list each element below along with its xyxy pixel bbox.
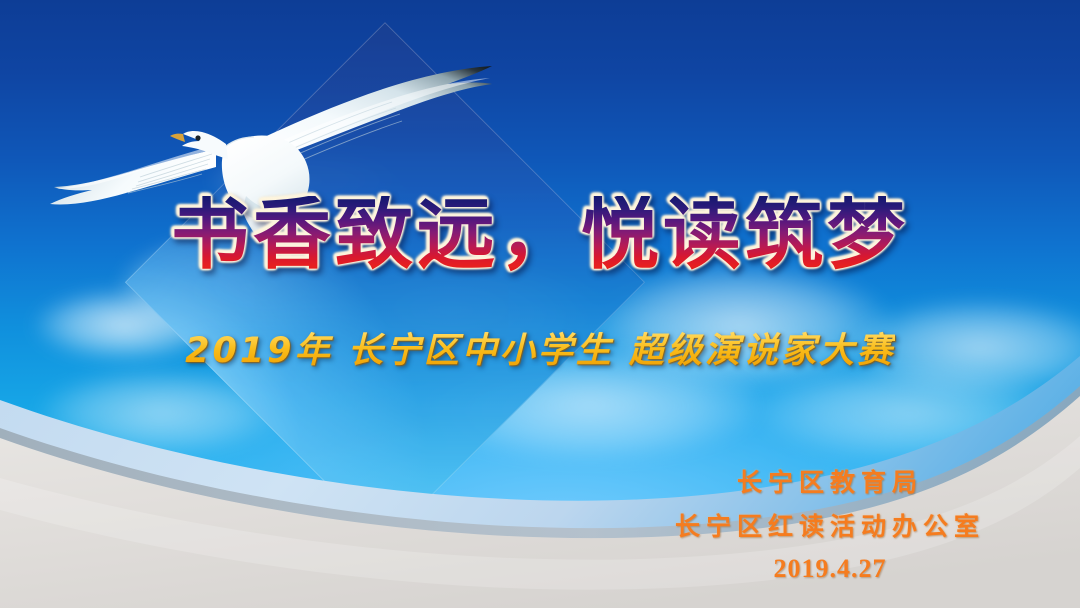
seagull-icon: [40, 28, 540, 298]
curved-footer-bands: [0, 328, 1080, 608]
poster-slide: 书香致远，悦读筑梦 2019年 长宁区中小学生 超级演说家大赛: [0, 0, 1080, 608]
